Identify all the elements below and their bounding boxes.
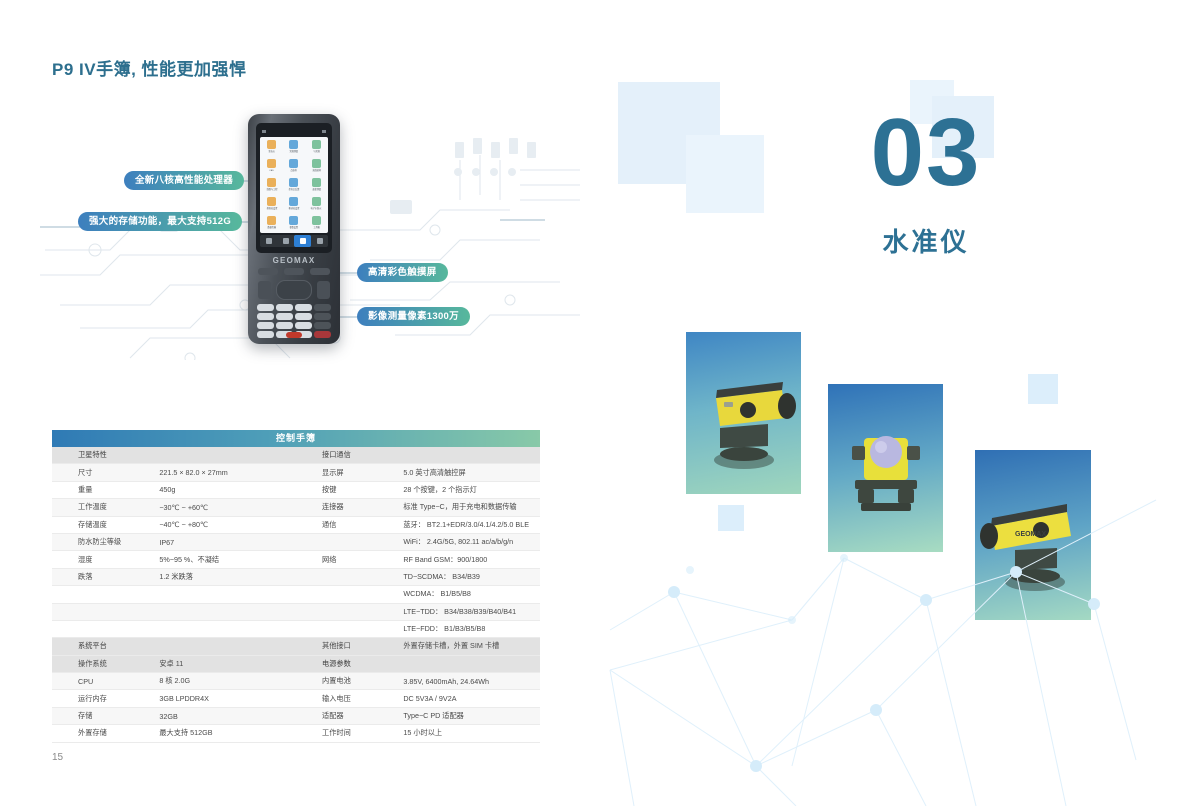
device-soft-key-row	[258, 268, 330, 275]
keypad-key	[276, 313, 293, 320]
tools-icon	[317, 238, 323, 244]
table-row: 操作系统安卓 11电源参数	[52, 656, 540, 673]
table-row: 存储温度−40℃ ~ +80℃通信蓝牙： BT2.1+EDR/3.0/4.1/4…	[52, 517, 540, 534]
table-cell-key: 重量	[52, 485, 159, 495]
table-row: LTE−FDD： B1/B3/B5/B8	[52, 621, 540, 638]
app-label: 全站仪	[268, 149, 274, 154]
table-cell-value: LTE−FDD： B1/B3/B5/B8	[403, 624, 540, 634]
table-cell-value: 外置存储卡槽，外置 SIM 卡槽	[403, 641, 540, 651]
measure-icon	[283, 238, 289, 244]
device-tab-bar	[260, 235, 328, 247]
app-label: 线路与工程	[266, 187, 277, 192]
table-cell-value: RF Band GSM：900/1800	[403, 555, 540, 565]
app-label: CAD	[269, 168, 274, 173]
keypad-key	[314, 304, 331, 311]
app-icon-cell: CAD	[261, 159, 282, 177]
table-cell-group-left: 卫星特性	[52, 447, 296, 463]
table-cell-key: 防水防尘等级	[52, 537, 159, 547]
specification-table: 控制手簿 卫星特性接口通信尺寸221.5 × 82.0 × 27mm显示屏5.0…	[52, 430, 540, 743]
table-cell-key: 接口通信	[296, 450, 403, 460]
app-label: 面积测量	[312, 187, 321, 192]
table-cell-group-right: 按键28 个按键，2 个指示灯	[296, 482, 540, 498]
app-icon-cell: 基准站设置	[261, 197, 282, 215]
table-cell-group-left: 运行内存3GB LPDDR4X	[52, 690, 296, 706]
table-cell-group-left: 重量450g	[52, 482, 296, 498]
table-cell-value: Type−C PD 适配器	[403, 711, 540, 721]
app-label: 数据传输	[267, 225, 276, 230]
dpad-icon	[276, 280, 312, 300]
table-cell-value: 1.2 米跌落	[159, 572, 296, 582]
keypad-key	[314, 313, 331, 320]
table-cell-value: 最大支持 512GB	[159, 728, 296, 738]
table-cell-value: 3.85V, 6400mAh, 24.64Wh	[403, 677, 540, 686]
app-label: 与常规	[313, 149, 319, 154]
device-status-bar	[260, 128, 328, 134]
app-icon-cell: 电子水准仪	[306, 197, 327, 215]
table-cell-key: 存储温度	[52, 520, 159, 530]
keypad-key	[257, 322, 274, 329]
app-icon	[289, 197, 298, 206]
table-cell-group-right: 内置电池3.85V, 6400mAh, 24.64Wh	[296, 673, 540, 689]
table-cell-value: LTE−TDD： B34/B38/B39/B40/B41	[403, 607, 540, 617]
app-icon	[312, 159, 321, 168]
table-cell-value: 5%−95 %、不凝结	[159, 555, 296, 565]
table-cell-group-right: TD−SCDMA： B34/B39	[296, 569, 540, 585]
table-cell-group-left: 存储温度−40℃ ~ +80℃	[52, 517, 296, 533]
table-cell-group-left: 系统平台	[52, 638, 296, 654]
callout-camera: 影像测量像素1300万	[357, 307, 470, 326]
app-label: 工具箱	[313, 225, 319, 230]
table-cell-key: 其他接口	[296, 641, 403, 651]
tab-data	[294, 235, 311, 247]
table-cell-key: 连接器	[296, 502, 403, 512]
table-cell-group-right: WCDMA： B1/B5/B8	[296, 586, 540, 602]
table-header: 控制手簿	[52, 430, 540, 447]
table-cell-group-left	[52, 586, 296, 602]
left-page: P9 IV手簿, 性能更加强悍	[0, 0, 596, 806]
app-label: 电子水准仪	[311, 206, 322, 211]
table-cell-group-right: LTE−FDD： B1/B3/B5/B8	[296, 621, 540, 637]
table-cell-group-right: 工作时间15 小时以上	[296, 725, 540, 741]
app-icon	[267, 216, 276, 225]
soft-key	[258, 268, 278, 275]
table-row: 工作温度−30℃ ~ +60℃连接器标准 Type−C，用于充电和数据传输	[52, 499, 540, 516]
keypad-key	[314, 331, 331, 338]
table-cell-key: 按键	[296, 485, 403, 495]
table-cell-group-right: 网络RF Band GSM：900/1800	[296, 551, 540, 567]
table-cell-key: 操作系统	[52, 659, 159, 669]
app-icon	[267, 159, 276, 168]
table-row: 跌落1.2 米跌落TD−SCDMA： B34/B39	[52, 569, 540, 586]
device-brand-logo: GEOMAX	[248, 256, 340, 265]
table-cell-value: 5.0 英寸高清触控屏	[403, 468, 540, 478]
brochure-spread: P9 IV手簿, 性能更加强悍	[0, 0, 1191, 806]
right-page: 03 水准仪	[596, 0, 1191, 806]
table-cell-key: 内置电池	[296, 676, 403, 686]
table-cell-group-left	[52, 604, 296, 620]
table-cell-key: 湿度	[52, 555, 159, 565]
table-cell-group-right: 适配器Type−C PD 适配器	[296, 708, 540, 724]
table-row: 运行内存3GB LPDDR4X输入电压DC 5V3A / 9V2A	[52, 690, 540, 707]
table-cell-key: 网络	[296, 555, 403, 565]
table-cell-value: −30℃ ~ +60℃	[159, 503, 296, 512]
callout-processor: 全新八核高性能处理器	[124, 171, 244, 190]
app-icon	[312, 216, 321, 225]
app-icon	[267, 178, 276, 187]
table-cell-key: 显示屏	[296, 468, 403, 478]
table-cell-value: 蓝牙： BT2.1+EDR/3.0/4.1/4.2/5.0 BLE	[403, 520, 540, 530]
table-row: 卫星特性接口通信	[52, 447, 540, 464]
table-cell-value: DC 5V3A / 9V2A	[403, 694, 540, 703]
table-cell-value: WCDMA： B1/B5/B8	[403, 589, 540, 599]
tab-tools	[311, 235, 328, 247]
table-row: CPU8 核 2.0G内置电池3.85V, 6400mAh, 24.64Wh	[52, 673, 540, 690]
app-icon	[289, 216, 298, 225]
keypad-key	[257, 313, 274, 320]
keypad-key	[276, 304, 293, 311]
table-row: 湿度5%−95 %、不凝结网络RF Band GSM：900/1800	[52, 551, 540, 568]
table-cell-key: 电源参数	[296, 659, 403, 669]
table-cell-value: 标准 Type−C，用于充电和数据传输	[403, 502, 540, 512]
table-cell-group-right: 电源参数	[296, 656, 540, 672]
table-cell-value: 450g	[159, 485, 296, 494]
table-cell-group-right: 通信蓝牙： BT2.1+EDR/3.0/4.1/4.2/5.0 BLE	[296, 517, 540, 533]
table-cell-group-left: 存储32GB	[52, 708, 296, 724]
device-navigation-block	[258, 279, 330, 301]
handheld-controller-illustration: 全站仪 常规测量 与常规 CAD 点放样 直线放样 线路与工程 坐标正反算 面积…	[248, 114, 340, 344]
keypad-key	[295, 313, 312, 320]
app-icon-cell: 面积测量	[306, 178, 327, 196]
app-label: 参数设置	[290, 225, 299, 230]
app-icon-cell: 常规测量	[283, 140, 304, 158]
table-row: 尺寸221.5 × 82.0 × 27mm显示屏5.0 英寸高清触控屏	[52, 464, 540, 481]
table-cell-group-left: 操作系统安卓 11	[52, 656, 296, 672]
callout-touchscreen: 高清彩色触摸屏	[357, 263, 448, 282]
app-icon	[267, 140, 276, 149]
table-cell-value: 221.5 × 82.0 × 27mm	[159, 468, 296, 477]
soft-key	[310, 268, 330, 275]
app-icon	[267, 197, 276, 206]
home-icon	[266, 238, 272, 244]
table-cell-key: 跌落	[52, 572, 159, 582]
table-cell-group-left: 湿度5%−95 %、不凝结	[52, 551, 296, 567]
app-icon-cell: 全站仪	[261, 140, 282, 158]
table-cell-group-right: 连接器标准 Type−C，用于充电和数据传输	[296, 499, 540, 515]
keypad-key	[257, 304, 274, 311]
keypad-key	[257, 331, 274, 338]
table-row: 系统平台其他接口外置存储卡槽，外置 SIM 卡槽	[52, 638, 540, 655]
app-label: 基准站设置	[266, 206, 277, 211]
network-pattern-background	[596, 200, 1191, 806]
table-cell-key: 系统平台	[52, 641, 159, 651]
app-icon-cell: 参数设置	[283, 216, 304, 234]
page-title: P9 IV手簿, 性能更加强悍	[52, 55, 247, 80]
table-row: 防水防尘等级IP67WiFi： 2.4G/5G, 802.11 ac/a/b/g…	[52, 534, 540, 551]
app-label: 坐标正反算	[289, 187, 300, 192]
table-cell-value: 8 核 2.0G	[159, 676, 296, 686]
table-cell-group-left: 外置存储最大支持 512GB	[52, 725, 296, 741]
power-button-icon	[286, 332, 302, 338]
keypad-key	[276, 322, 293, 329]
tab-measure	[277, 235, 294, 247]
app-icon	[312, 178, 321, 187]
table-row: 外置存储最大支持 512GB工作时间15 小时以上	[52, 725, 540, 742]
table-cell-key: 外置存储	[52, 728, 159, 738]
app-icon-cell: 直线放样	[306, 159, 327, 177]
table-cell-group-left: 尺寸221.5 × 82.0 × 27mm	[52, 464, 296, 480]
table-cell-key: CPU	[52, 677, 159, 686]
app-label: 移动站设置	[289, 206, 300, 211]
callout-storage: 强大的存储功能，最大支持512G	[78, 212, 242, 231]
app-icon	[312, 197, 321, 206]
table-cell-key: 通信	[296, 520, 403, 530]
table-cell-group-right: 接口通信	[296, 447, 540, 463]
app-icon-cell: 工具箱	[306, 216, 327, 234]
table-cell-group-left: 工作温度−30℃ ~ +60℃	[52, 499, 296, 515]
app-icon-cell: 坐标正反算	[283, 178, 304, 196]
table-cell-value: 32GB	[159, 712, 296, 721]
app-icon-cell: 移动站设置	[283, 197, 304, 215]
table-cell-group-left: 跌落1.2 米跌落	[52, 569, 296, 585]
app-icon-grid: 全站仪 常规测量 与常规 CAD 点放样 直线放样 线路与工程 坐标正反算 面积…	[260, 137, 328, 233]
section-number: 03	[836, 105, 1016, 201]
table-cell-group-left: CPU8 核 2.0G	[52, 673, 296, 689]
table-cell-value: 3GB LPDDR4X	[159, 694, 296, 703]
table-cell-value: −40℃ ~ +80℃	[159, 520, 296, 529]
table-cell-value: IP67	[159, 538, 296, 547]
app-icon	[289, 159, 298, 168]
device-body: 全站仪 常规测量 与常规 CAD 点放样 直线放样 线路与工程 坐标正反算 面积…	[248, 114, 340, 344]
function-key-left	[258, 281, 271, 299]
app-icon	[289, 178, 298, 187]
table-cell-group-right: LTE−TDD： B34/B38/B39/B40/B41	[296, 604, 540, 620]
table-row: 存储32GB适配器Type−C PD 适配器	[52, 708, 540, 725]
keypad-key	[295, 304, 312, 311]
table-cell-key: 工作温度	[52, 502, 159, 512]
table-cell-group-left: 防水防尘等级IP67	[52, 534, 296, 550]
table-cell-value: TD−SCDMA： B34/B39	[403, 572, 540, 582]
page-number-left: 15	[52, 752, 63, 763]
table-cell-value: WiFi： 2.4G/5G, 802.11 ac/a/b/g/n	[403, 537, 540, 547]
app-icon-cell: 点放样	[283, 159, 304, 177]
app-icon	[312, 140, 321, 149]
table-cell-key: 适配器	[296, 711, 403, 721]
table-cell-group-right: 显示屏5.0 英寸高清触控屏	[296, 464, 540, 480]
table-cell-group-right: 输入电压DC 5V3A / 9V2A	[296, 690, 540, 706]
app-label: 直线放样	[312, 168, 321, 173]
table-cell-key: 卫星特性	[52, 450, 159, 460]
table-row: 重量450g按键28 个按键，2 个指示灯	[52, 482, 540, 499]
keypad-key	[314, 322, 331, 329]
table-cell-group-left	[52, 621, 296, 637]
table-row: LTE−TDD： B34/B38/B39/B40/B41	[52, 604, 540, 621]
app-icon-cell: 线路与工程	[261, 178, 282, 196]
table-cell-key: 存储	[52, 711, 159, 721]
table-cell-key: 尺寸	[52, 468, 159, 478]
keypad-key	[295, 322, 312, 329]
function-key-right	[317, 281, 330, 299]
data-icon	[300, 238, 306, 244]
table-cell-group-right: 其他接口外置存储卡槽，外置 SIM 卡槽	[296, 638, 540, 654]
app-label: 点放样	[291, 168, 297, 173]
table-cell-value: 15 小时以上	[403, 728, 540, 738]
soft-key	[284, 268, 304, 275]
table-cell-key: 工作时间	[296, 728, 403, 738]
table-cell-value: 安卓 11	[159, 659, 296, 669]
table-row: WCDMA： B1/B5/B8	[52, 586, 540, 603]
table-cell-group-right: WiFi： 2.4G/5G, 802.11 ac/a/b/g/n	[296, 534, 540, 550]
table-body: 卫星特性接口通信尺寸221.5 × 82.0 × 27mm显示屏5.0 英寸高清…	[52, 447, 540, 743]
table-cell-value: 28 个按键，2 个指示灯	[403, 485, 540, 495]
table-cell-key: 输入电压	[296, 694, 403, 704]
device-screen: 全站仪 常规测量 与常规 CAD 点放样 直线放样 线路与工程 坐标正反算 面积…	[256, 123, 332, 253]
tab-home	[260, 235, 277, 247]
app-icon	[289, 140, 298, 149]
app-label: 常规测量	[290, 149, 299, 154]
app-icon-cell: 与常规	[306, 140, 327, 158]
app-icon-cell: 数据传输	[261, 216, 282, 234]
table-cell-key: 运行内存	[52, 694, 159, 704]
